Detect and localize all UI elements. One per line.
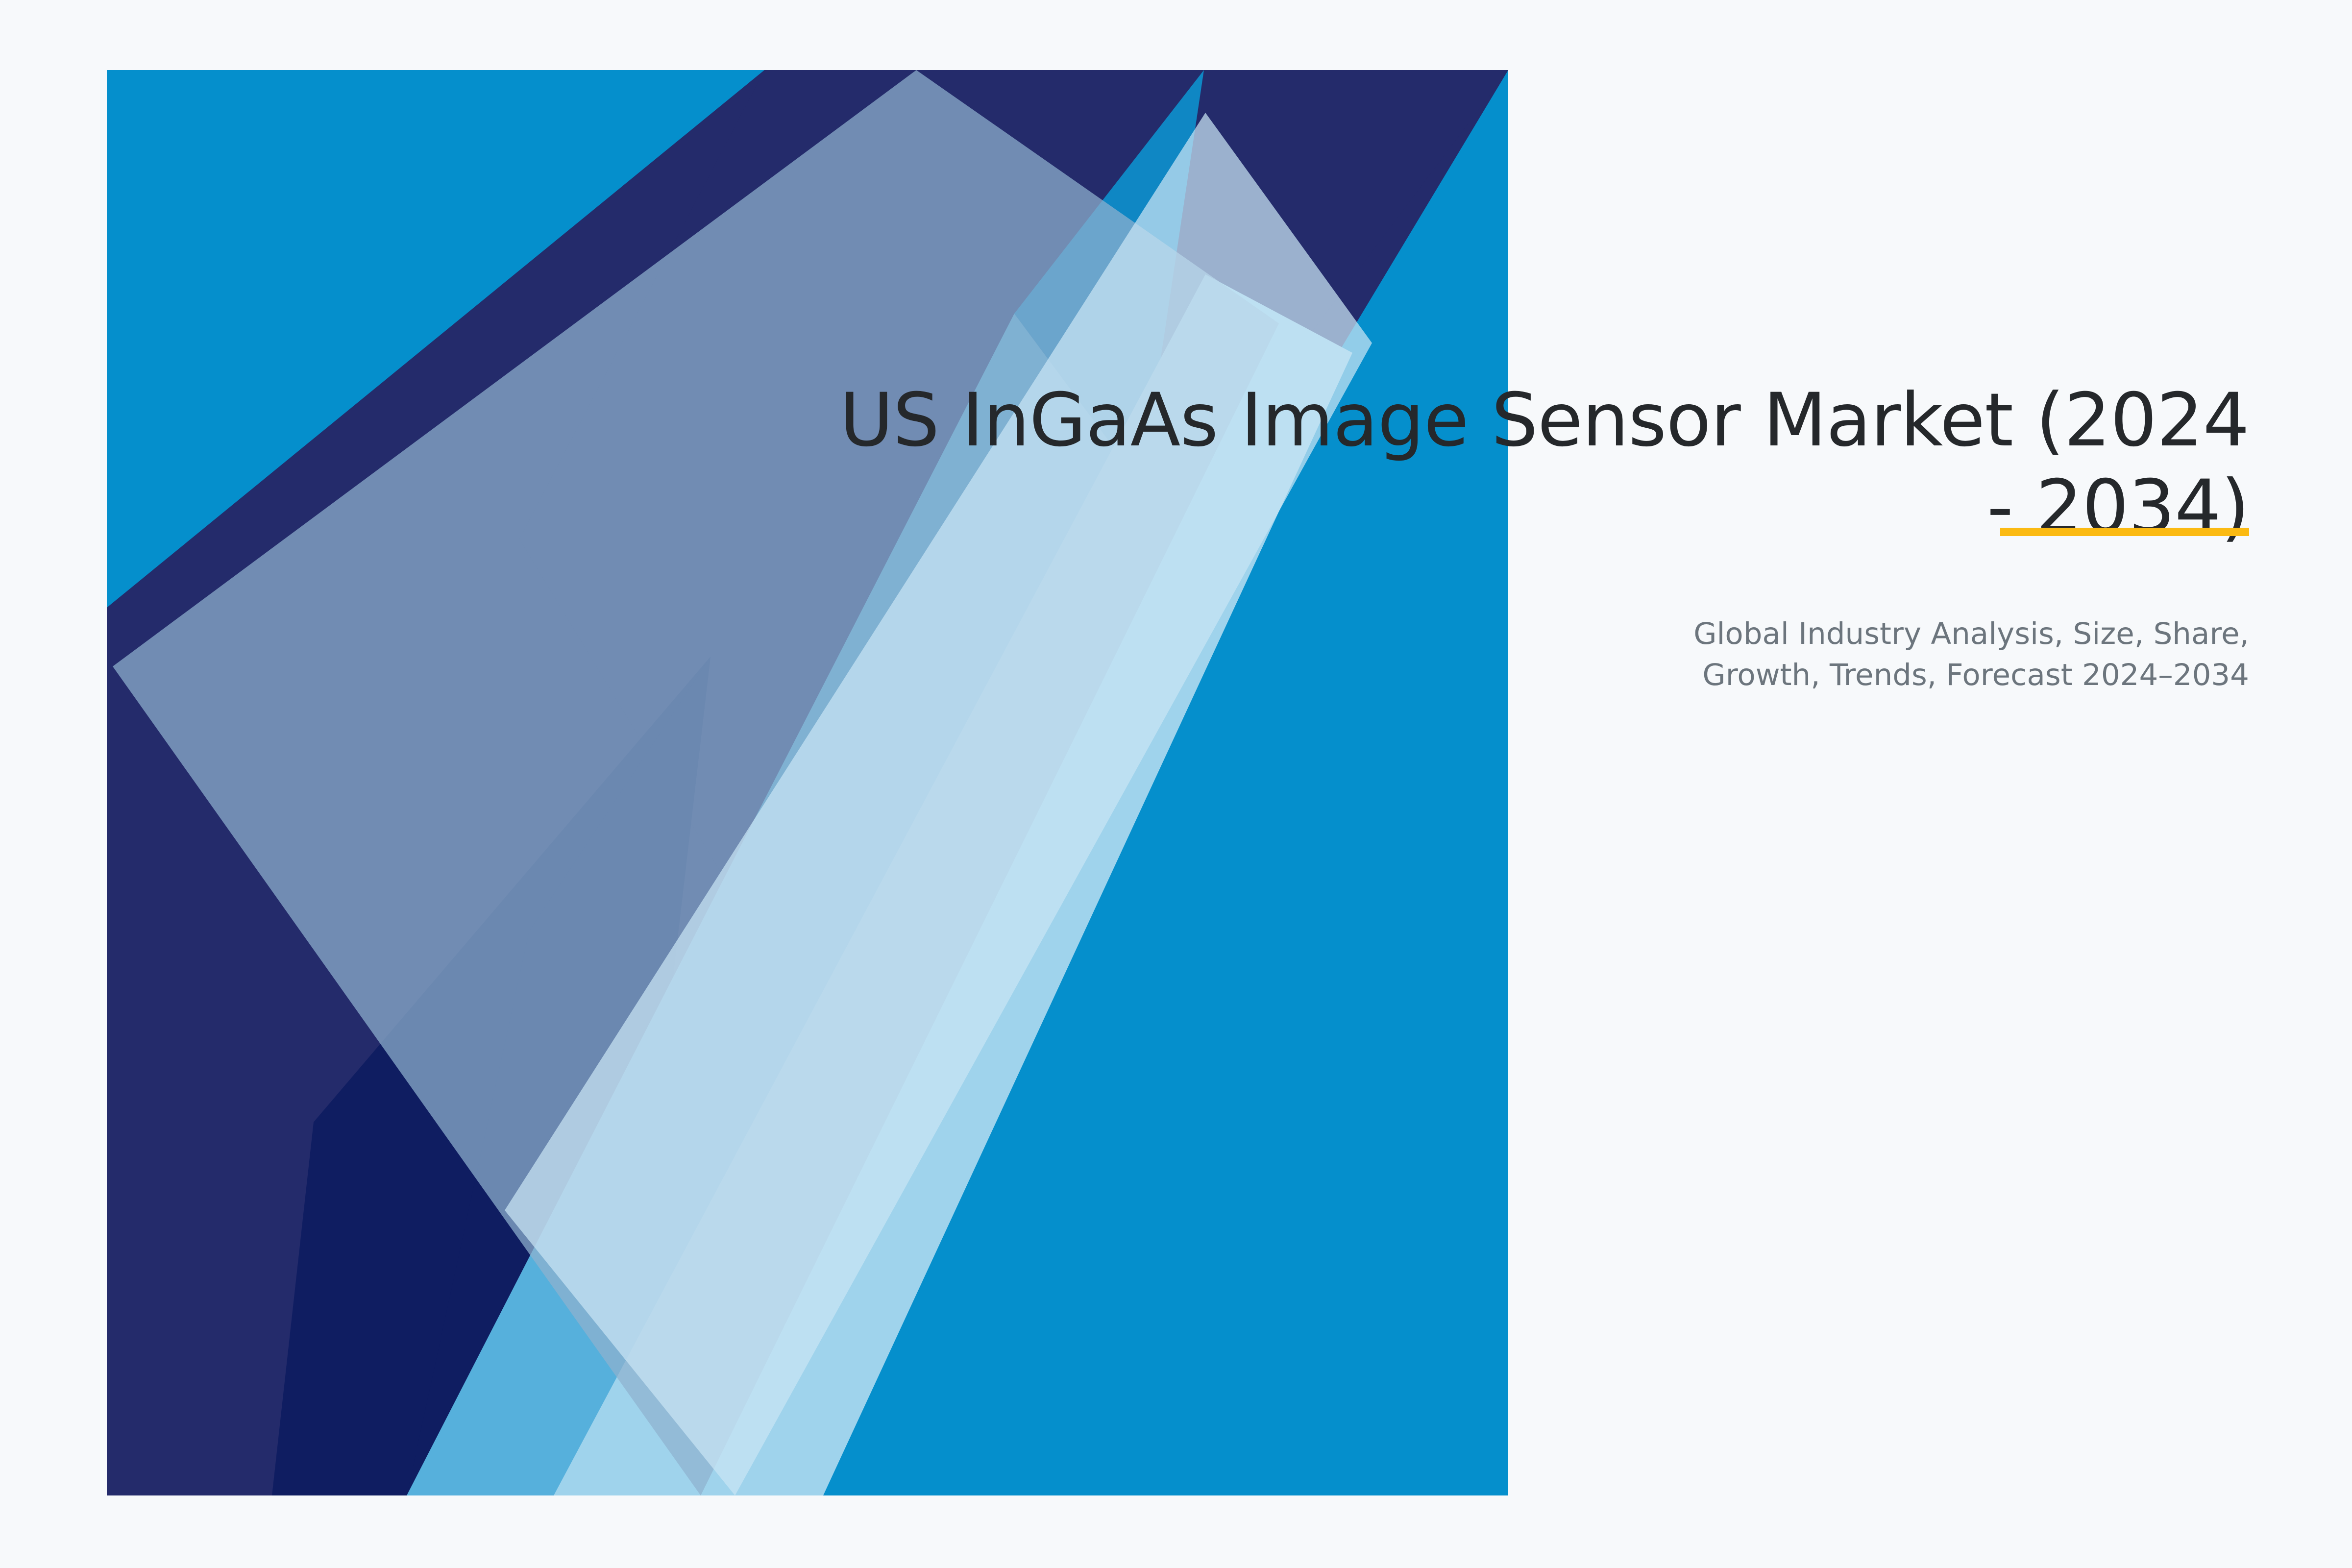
page-subtitle: Global Industry Analysis, Size, Share, G… <box>784 551 2249 696</box>
cyan-base-panel <box>107 70 1508 1495</box>
steel-blue-overlay <box>113 70 1279 1495</box>
title-wrapper: US InGaAs Image Sensor Market (2024 - 20… <box>784 377 2249 551</box>
abstract-geometric-cover-graphic <box>0 0 2352 1568</box>
title-underline-accent <box>2000 528 2249 536</box>
dark-navy-lower-blade <box>272 657 710 1495</box>
navy-upper-right-wedge <box>107 70 1508 1495</box>
cover-text-block: US InGaAs Image Sensor Market (2024 - 20… <box>784 377 2249 696</box>
dark-navy-lower-blade <box>407 657 710 1495</box>
pale-blue-overlay <box>505 113 1372 1495</box>
page-title: US InGaAs Image Sensor Market (2024 - 20… <box>784 377 2249 551</box>
cover-page: US InGaAs Image Sensor Market (2024 - 20… <box>0 0 2352 1568</box>
